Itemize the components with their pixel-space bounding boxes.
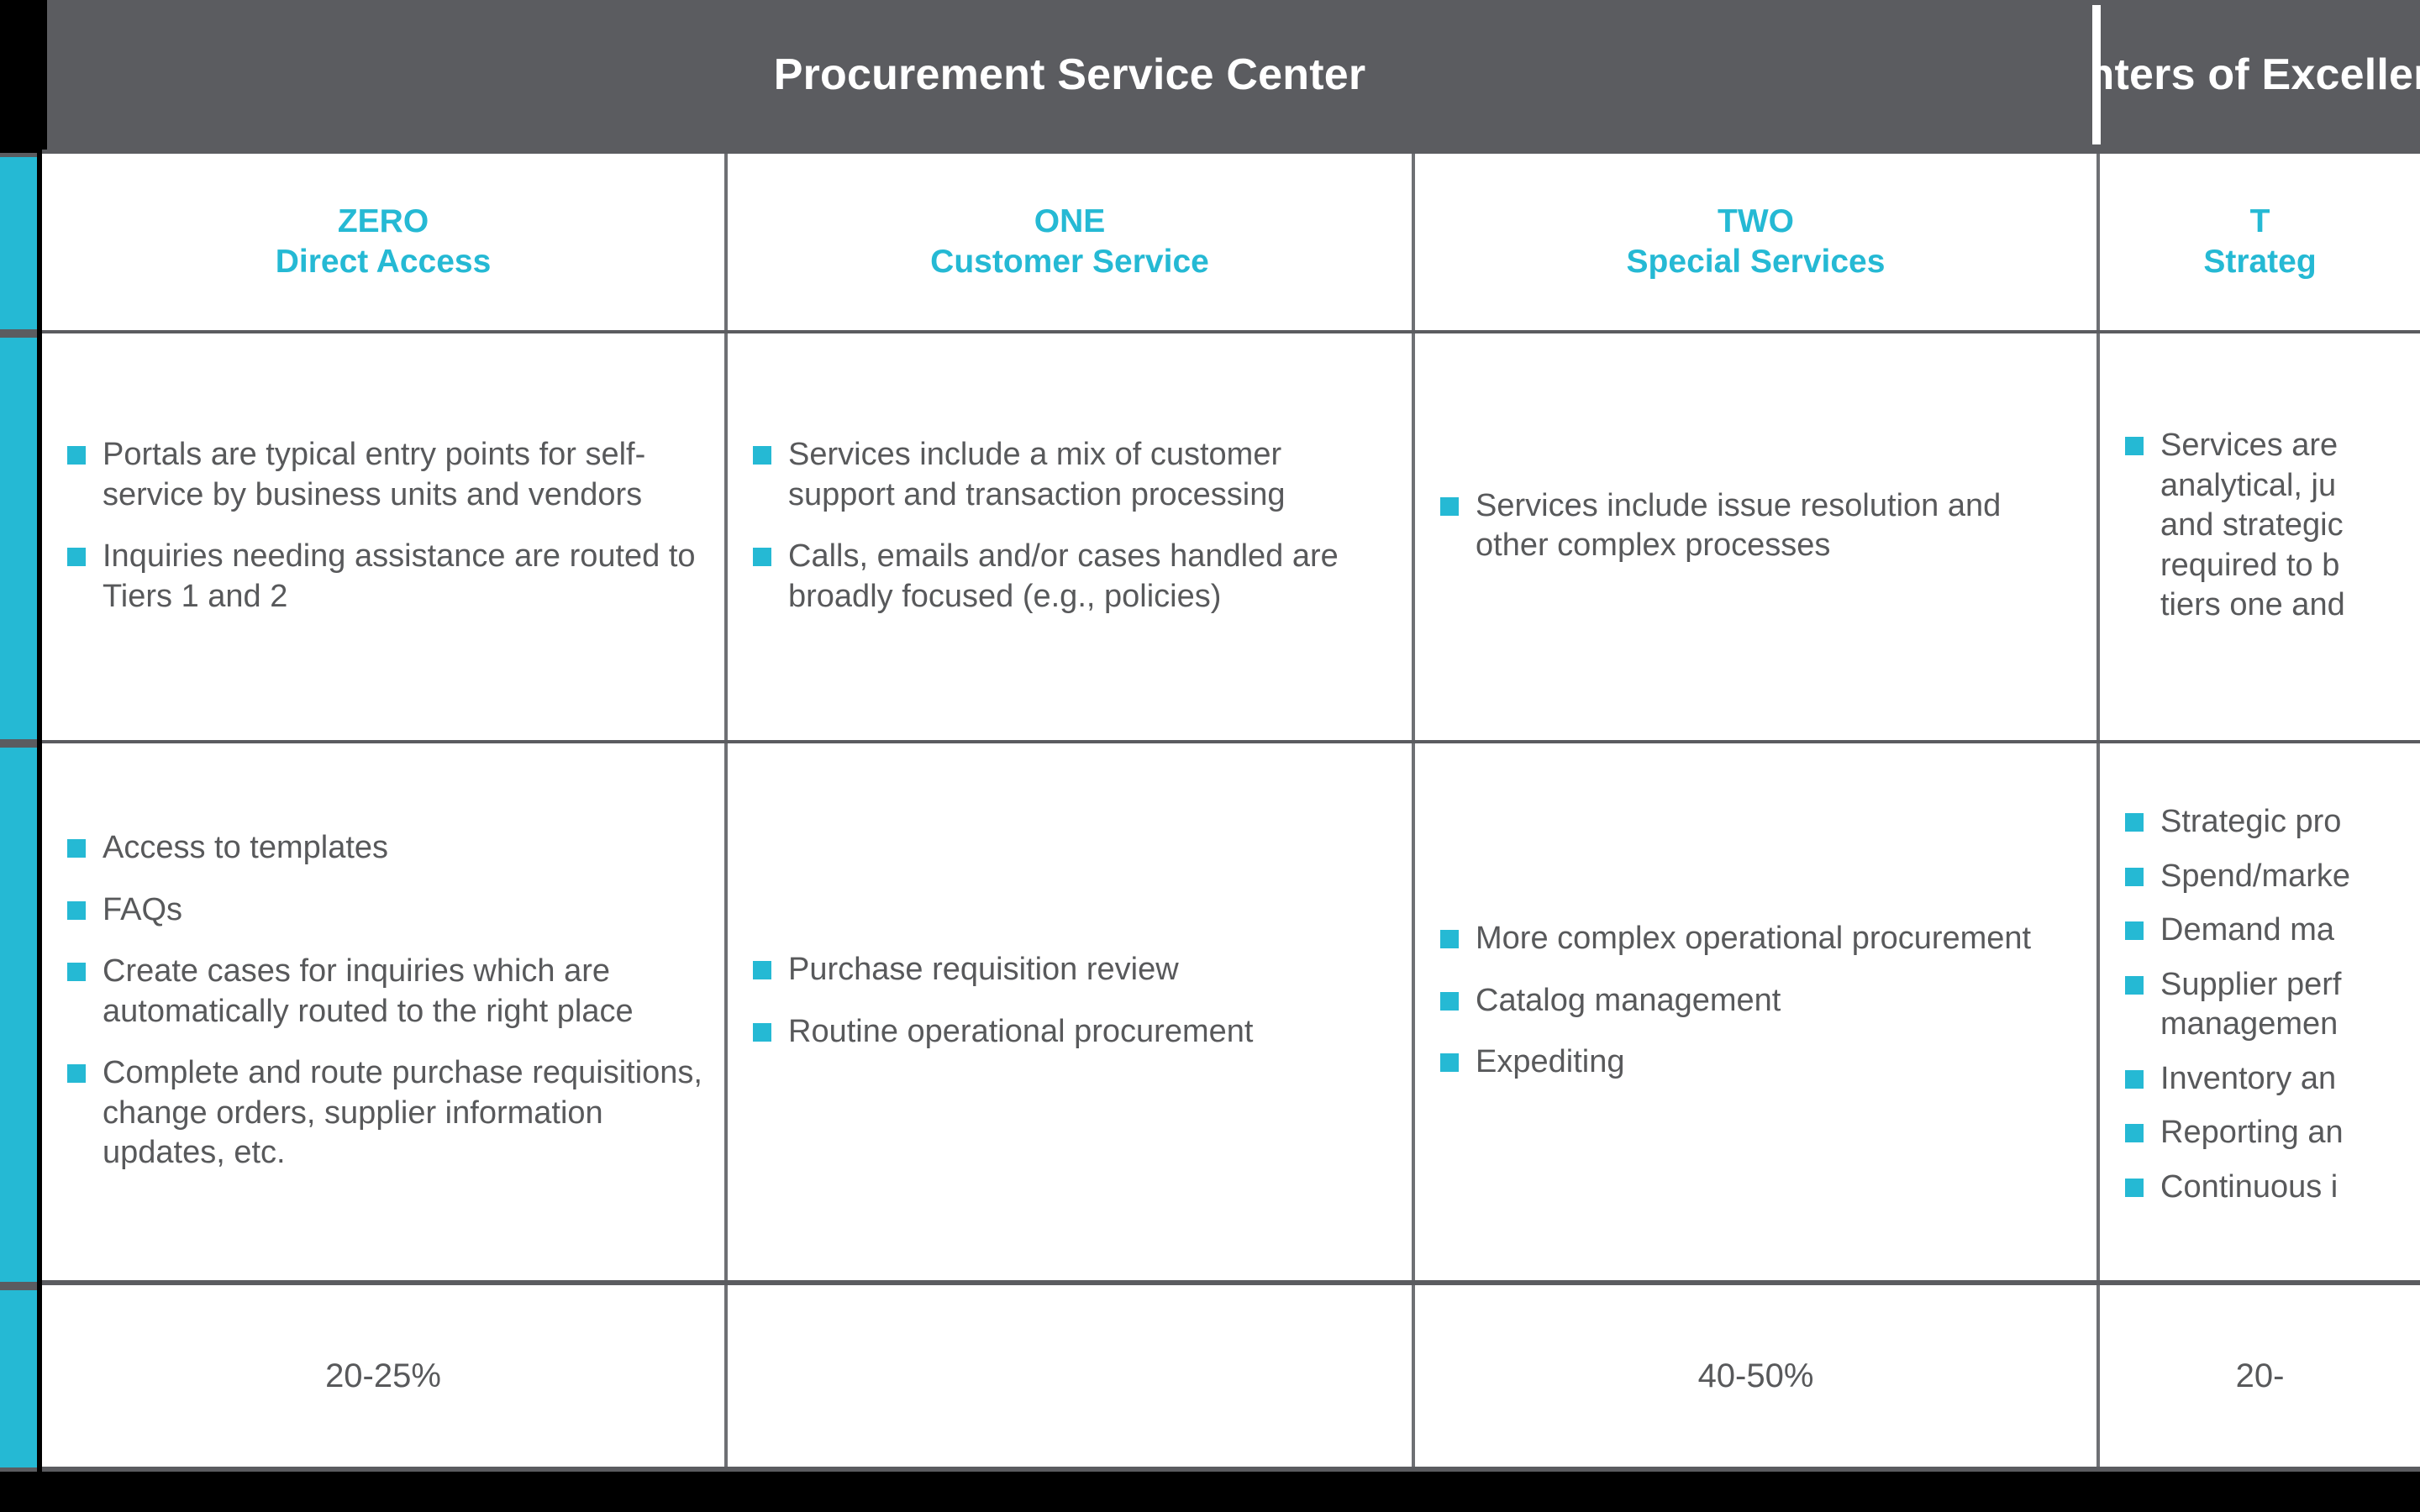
list-item-text: Expediting bbox=[1476, 1044, 1624, 1079]
bullet-square-icon bbox=[2125, 1070, 2144, 1089]
bullet-square-icon bbox=[753, 548, 771, 566]
list-item: Access to templates bbox=[64, 828, 702, 869]
table-row-details: Access to templates FAQs Create cases fo… bbox=[42, 743, 2420, 1285]
list-item-text: Complete and route purchase requisitions… bbox=[103, 1055, 702, 1170]
list-item-text: Spend/marke bbox=[2160, 858, 2350, 894]
tier-name-zero: Direct Access bbox=[276, 242, 492, 282]
bullet-square-icon bbox=[67, 901, 86, 920]
list-item-text: Services are analytical, ju and strategi… bbox=[2160, 428, 2345, 622]
list-item: Spend/marke bbox=[2122, 857, 2398, 897]
list-item: Create cases for inquiries which are aut… bbox=[64, 952, 702, 1032]
description-cell-two: Services include issue resolution and ot… bbox=[1412, 333, 2096, 740]
tier-number-two: TWO bbox=[1718, 202, 1794, 242]
list-item: Calls, emails and/or cases handled are b… bbox=[750, 537, 1390, 617]
bullet-square-icon bbox=[2125, 976, 2144, 995]
list-item-text: Access to templates bbox=[103, 830, 388, 865]
list-item-text: More complex operational procurement bbox=[1476, 921, 2031, 956]
bullet-square-icon bbox=[2125, 813, 2144, 832]
description-list-two: Services include issue resolution and ot… bbox=[1437, 486, 2075, 588]
list-item: Services are analytical, ju and strategi… bbox=[2122, 426, 2398, 626]
tier-header-two: TWO Special Services bbox=[1412, 154, 2096, 330]
detail-list-one: Purchase requisition review Routine oper… bbox=[750, 950, 1390, 1074]
detail-list-zero: Access to templates FAQs Create cases fo… bbox=[64, 828, 702, 1195]
list-item-text: Inquiries needing assistance are routed … bbox=[103, 538, 696, 614]
percent-cell-three: 20- bbox=[2096, 1285, 2420, 1467]
detail-cell-one: Purchase requisition review Routine oper… bbox=[724, 743, 1412, 1280]
list-item-text: Reporting an bbox=[2160, 1115, 2344, 1150]
description-list-one: Services include a mix of customer suppo… bbox=[750, 435, 1390, 638]
percent-cell-two: 40-50% bbox=[1412, 1285, 2096, 1467]
tier-header-zero: ZERO Direct Access bbox=[42, 154, 724, 330]
list-item-text: Routine operational procurement bbox=[788, 1014, 1253, 1049]
list-item: Reporting an bbox=[2122, 1113, 2398, 1153]
description-cell-zero: Portals are typical entry points for sel… bbox=[42, 333, 724, 740]
header-group-procurement-service-center: Procurement Service Center bbox=[47, 0, 2092, 150]
tier-number-three: T bbox=[2250, 202, 2270, 242]
description-cell-three: Services are analytical, ju and strategi… bbox=[2096, 333, 2420, 740]
list-item: Portals are typical entry points for sel… bbox=[64, 435, 702, 515]
list-item: Continuous i bbox=[2122, 1168, 2398, 1208]
list-item: Complete and route purchase requisitions… bbox=[64, 1053, 702, 1173]
detail-cell-three: Strategic pro Spend/marke Demand ma Supp… bbox=[2096, 743, 2420, 1280]
description-cell-one: Services include a mix of customer suppo… bbox=[724, 333, 1412, 740]
tier-number-one: ONE bbox=[1034, 202, 1106, 242]
description-list-zero: Portals are typical entry points for sel… bbox=[64, 435, 702, 638]
bullet-square-icon bbox=[753, 961, 771, 979]
bullet-square-icon bbox=[2125, 921, 2144, 940]
percent-value-three: 20- bbox=[2236, 1359, 2285, 1393]
list-item: FAQs bbox=[64, 890, 702, 931]
tier-number-zero: ZERO bbox=[338, 202, 429, 242]
bullet-square-icon bbox=[2125, 437, 2144, 455]
list-item-text: Strategic pro bbox=[2160, 804, 2341, 839]
bullet-square-icon bbox=[67, 446, 86, 465]
list-item-text: Services include a mix of customer suppo… bbox=[788, 437, 1285, 512]
list-item: Demand ma bbox=[2122, 911, 2398, 951]
bullet-square-icon bbox=[2125, 1124, 2144, 1142]
bullet-square-icon bbox=[1440, 930, 1459, 948]
tier-name-three: Strateg bbox=[2203, 242, 2316, 282]
bullet-square-icon bbox=[67, 1064, 86, 1083]
header-title-centers-of-excellence: Centers of Excellence bbox=[2101, 50, 2420, 100]
list-item-text: Services include issue resolution and ot… bbox=[1476, 488, 2001, 564]
list-item-text: Portals are typical entry points for sel… bbox=[103, 437, 645, 512]
accent-stripe-detail-row bbox=[0, 743, 37, 1286]
list-item: Services include a mix of customer suppo… bbox=[750, 435, 1390, 515]
accent-stripe-tier-row bbox=[0, 153, 37, 333]
description-list-three: Services are analytical, ju and strategi… bbox=[2122, 426, 2398, 648]
table-row-percentages: 20-25% 40-50% 20- bbox=[42, 1285, 2420, 1467]
list-item-text: Purchase requisition review bbox=[788, 952, 1179, 987]
detail-list-three: Strategic pro Spend/marke Demand ma Supp… bbox=[2122, 802, 2398, 1221]
list-item: Routine operational procurement bbox=[750, 1012, 1390, 1053]
accent-stripe-percent-row bbox=[0, 1286, 37, 1472]
list-item-text: Create cases for inquiries which are aut… bbox=[103, 953, 634, 1029]
table-row-tier-headers: ZERO Direct Access ONE Customer Service … bbox=[42, 154, 2420, 333]
bullet-square-icon bbox=[67, 963, 86, 981]
tier-header-three: T Strateg bbox=[2096, 154, 2420, 330]
list-item: Supplier perf managemen bbox=[2122, 965, 2398, 1045]
list-item-text: Catalog management bbox=[1476, 983, 1781, 1018]
header-title-procurement-service-center: Procurement Service Center bbox=[774, 50, 1366, 100]
percent-value-two: 40-50% bbox=[1698, 1359, 1814, 1393]
percent-value-zero: 20-25% bbox=[325, 1359, 441, 1393]
tier-name-two: Special Services bbox=[1627, 242, 1886, 282]
detail-list-two: More complex operational procurement Cat… bbox=[1437, 919, 2075, 1105]
list-item-text: Calls, emails and/or cases handled are b… bbox=[788, 538, 1339, 614]
tier-comparison-table: ZERO Direct Access ONE Customer Service … bbox=[42, 150, 2420, 1472]
bullet-square-icon bbox=[753, 446, 771, 465]
tier-name-one: Customer Service bbox=[930, 242, 1209, 282]
list-item: Purchase requisition review bbox=[750, 950, 1390, 990]
list-item: Strategic pro bbox=[2122, 802, 2398, 843]
list-item-text: Supplier perf managemen bbox=[2160, 967, 2341, 1042]
bullet-square-icon bbox=[1440, 1053, 1459, 1072]
percent-cell-zero: 20-25% bbox=[42, 1285, 724, 1467]
detail-cell-two: More complex operational procurement Cat… bbox=[1412, 743, 2096, 1280]
slide-canvas: Procurement Service Center Centers of Ex… bbox=[0, 0, 2420, 1512]
list-item: Inquiries needing assistance are routed … bbox=[64, 537, 702, 617]
list-item: Expediting bbox=[1437, 1042, 2075, 1083]
bullet-square-icon bbox=[1440, 497, 1459, 516]
list-item-text: Continuous i bbox=[2160, 1169, 2338, 1205]
bullet-square-icon bbox=[67, 548, 86, 566]
header-group-centers-of-excellence: Centers of Excellence bbox=[2101, 0, 2420, 150]
list-item: More complex operational procurement bbox=[1437, 919, 2075, 959]
list-item-text: FAQs bbox=[103, 892, 182, 927]
table-row-descriptions: Portals are typical entry points for sel… bbox=[42, 333, 2420, 743]
bullet-square-icon bbox=[1440, 992, 1459, 1011]
list-item-text: Demand ma bbox=[2160, 912, 2334, 948]
tier-header-one: ONE Customer Service bbox=[724, 154, 1412, 330]
bullet-square-icon bbox=[753, 1023, 771, 1042]
accent-stripe-description-row bbox=[0, 333, 37, 743]
list-item-text: Inventory an bbox=[2160, 1061, 2336, 1096]
bullet-square-icon bbox=[2125, 1179, 2144, 1197]
list-item: Catalog management bbox=[1437, 981, 2075, 1021]
header-divider bbox=[2092, 5, 2101, 144]
detail-cell-zero: Access to templates FAQs Create cases fo… bbox=[42, 743, 724, 1280]
bullet-square-icon bbox=[67, 839, 86, 858]
list-item: Services include issue resolution and ot… bbox=[1437, 486, 2075, 566]
percent-cell-one bbox=[724, 1285, 1412, 1467]
list-item: Inventory an bbox=[2122, 1059, 2398, 1100]
bullet-square-icon bbox=[2125, 868, 2144, 886]
